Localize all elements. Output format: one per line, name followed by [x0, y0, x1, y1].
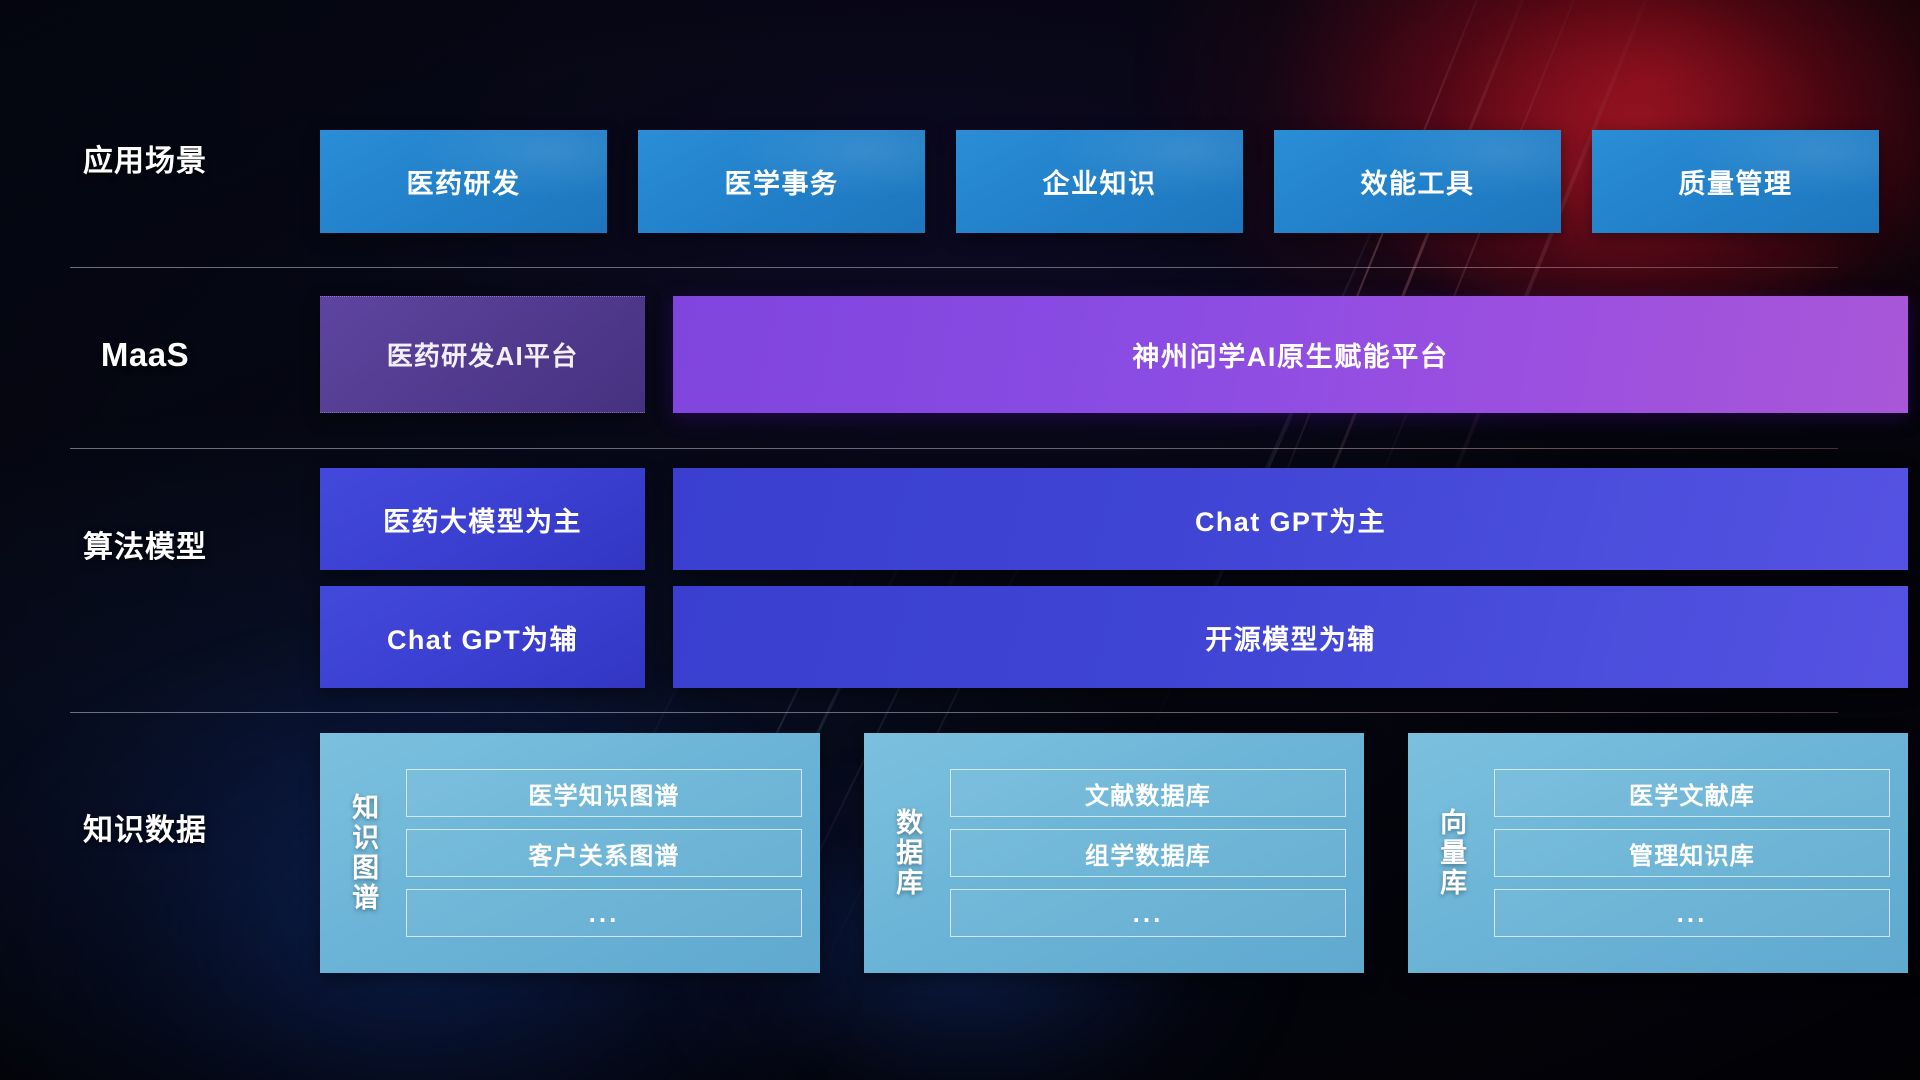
- algo-box-label: Chat GPT为辅: [387, 618, 578, 657]
- knowledge-panel-vertical-label: 向量库: [1422, 747, 1480, 959]
- knowledge-chip[interactable]: 客户关系图谱: [406, 829, 802, 877]
- app-box-enterprise-knowledge[interactable]: 企业知识: [956, 130, 1243, 233]
- algo-box-label: 医药大模型为主: [383, 500, 582, 539]
- app-box-efficiency-tools[interactable]: 效能工具: [1274, 130, 1561, 233]
- algo-box-opensource-secondary[interactable]: 开源模型为辅: [673, 586, 1908, 688]
- app-box-medical-affairs[interactable]: 医学事务: [638, 130, 925, 233]
- maas-box-label: 神州问学AI原生赋能平台: [1132, 335, 1448, 374]
- app-box-label: 企业知识: [1043, 162, 1157, 201]
- app-box-pharma-rnd[interactable]: 医药研发: [320, 130, 607, 233]
- algo-box-chatgpt-primary[interactable]: Chat GPT为主: [673, 468, 1908, 570]
- algo-box-pharma-llm-primary[interactable]: 医药大模型为主: [320, 468, 645, 570]
- maas-box-label: 医药研发AI平台: [387, 336, 579, 373]
- knowledge-panel-knowledge-graph[interactable]: 知识图谱 医学知识图谱 客户关系图谱 ...: [320, 733, 820, 973]
- app-box-label: 质量管理: [1679, 162, 1793, 201]
- knowledge-chip[interactable]: 医学知识图谱: [406, 769, 802, 817]
- knowledge-chip-list: 文献数据库 组学数据库 ...: [950, 747, 1346, 959]
- knowledge-panel-vertical-label: 知识图谱: [334, 747, 392, 959]
- tier-knowledge-data: 知识数据 知识图谱 医学知识图谱 客户关系图谱 ... 数据库 文献数据库 组学…: [70, 733, 1838, 973]
- tier-maas: MaaS 医药研发AI平台 神州问学AI原生赋能平台: [70, 296, 1838, 413]
- maas-box-pharma-ai-platform[interactable]: 医药研发AI平台: [320, 296, 645, 413]
- maas-box-shenzhou-wenxue-platform[interactable]: 神州问学AI原生赋能平台: [673, 296, 1908, 413]
- app-box-label: 效能工具: [1361, 162, 1475, 201]
- divider-maas-algorithms: [70, 448, 1838, 449]
- knowledge-chip[interactable]: 管理知识库: [1494, 829, 1890, 877]
- tier-application-scenarios: 应用场景 医药研发 医学事务 企业知识 效能工具 质量管理: [70, 130, 1838, 233]
- ai-platform-architecture-diagram: 应用场景 医药研发 医学事务 企业知识 效能工具 质量管理 MaaS 医药研发A…: [0, 0, 1920, 1080]
- app-box-label: 医药研发: [407, 162, 521, 201]
- knowledge-chip-more[interactable]: ...: [1494, 889, 1890, 937]
- knowledge-chip-more[interactable]: ...: [950, 889, 1346, 937]
- knowledge-chip-more[interactable]: ...: [406, 889, 802, 937]
- algorithm-row-secondary: Chat GPT为辅 开源模型为辅: [320, 586, 1908, 688]
- knowledge-chip-list: 医学知识图谱 客户关系图谱 ...: [406, 747, 802, 959]
- algo-box-label: Chat GPT为主: [1195, 500, 1386, 539]
- knowledge-chip-list: 医学文献库 管理知识库 ...: [1494, 747, 1890, 959]
- tier-label-maas: MaaS: [70, 336, 220, 375]
- app-box-label: 医学事务: [725, 162, 839, 201]
- knowledge-chip[interactable]: 医学文献库: [1494, 769, 1890, 817]
- tier-label-knowledge-data: 知识数据: [70, 813, 220, 848]
- algo-box-label: 开源模型为辅: [1205, 618, 1375, 657]
- knowledge-panel-vector-store[interactable]: 向量库 医学文献库 管理知识库 ...: [1408, 733, 1908, 973]
- knowledge-panel-row: 知识图谱 医学知识图谱 客户关系图谱 ... 数据库 文献数据库 组学数据库 .…: [320, 733, 1908, 973]
- application-scenario-box-row: 医药研发 医学事务 企业知识 效能工具 质量管理: [320, 130, 1879, 233]
- app-box-quality-management[interactable]: 质量管理: [1592, 130, 1879, 233]
- knowledge-panel-vertical-label: 数据库: [878, 747, 936, 959]
- tier-algorithm-models: 算法模型 医药大模型为主 Chat GPT为主 Chat GPT为辅 开源模型为…: [70, 468, 1838, 688]
- knowledge-panel-database[interactable]: 数据库 文献数据库 组学数据库 ...: [864, 733, 1364, 973]
- tier-label-algorithm-models: 算法模型: [70, 530, 220, 565]
- divider-apps-maas: [70, 267, 1838, 268]
- knowledge-chip[interactable]: 文献数据库: [950, 769, 1346, 817]
- algorithm-row-primary: 医药大模型为主 Chat GPT为主: [320, 468, 1908, 570]
- tier-label-application-scenarios: 应用场景: [70, 144, 220, 179]
- divider-algorithms-knowledge: [70, 712, 1838, 713]
- algo-box-chatgpt-secondary[interactable]: Chat GPT为辅: [320, 586, 645, 688]
- knowledge-chip[interactable]: 组学数据库: [950, 829, 1346, 877]
